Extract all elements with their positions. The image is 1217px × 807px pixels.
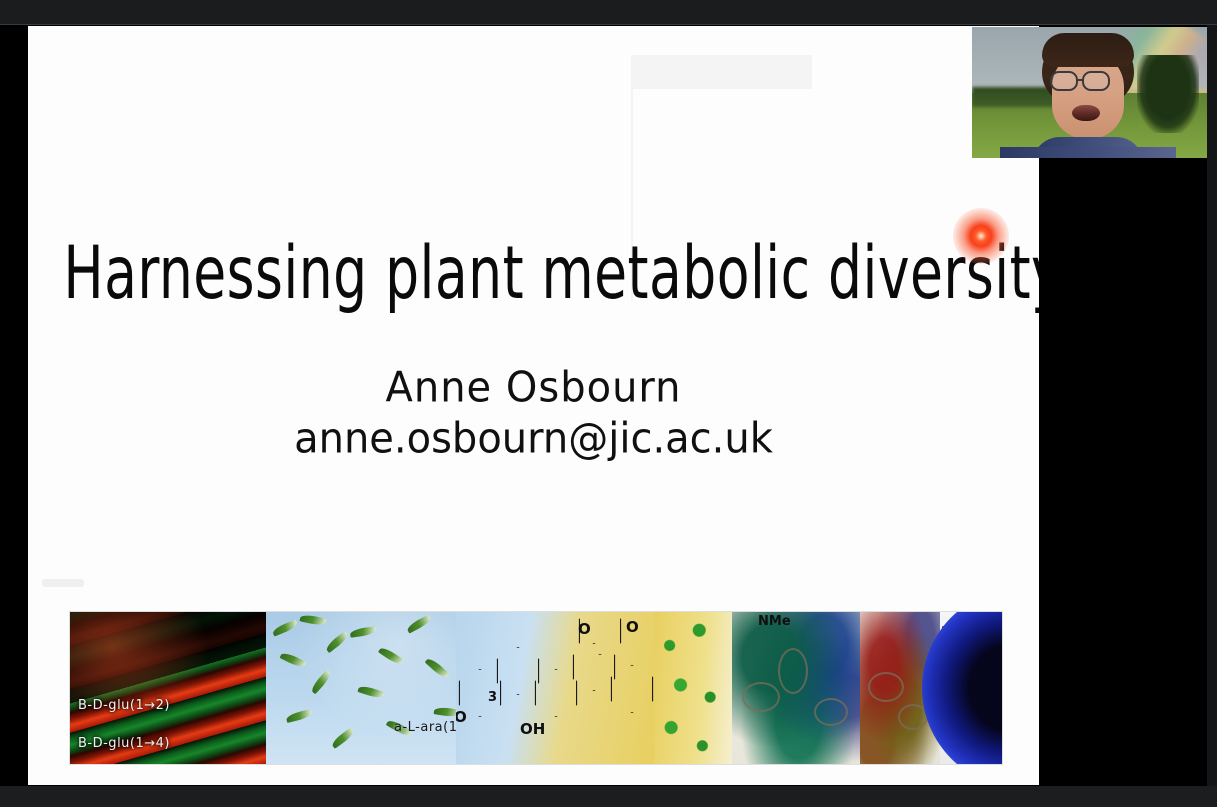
glasses-lens-left xyxy=(1050,71,1078,91)
stage-left-gutter xyxy=(0,25,28,786)
fluorescence-micrograph-panel: B-D-glu(1→2) B-D-glu(1→4) xyxy=(70,612,266,764)
presenter-name: Anne Osbourn xyxy=(28,365,1039,412)
protein-ribbon-green-blue-panel: NMe xyxy=(732,612,860,764)
meeting-top-bar xyxy=(0,0,1217,25)
meeting-stage: Harnessing plant metabolic diversity Ann… xyxy=(0,0,1217,807)
chem-atom-o-left: O xyxy=(456,708,467,726)
page-title: Harnessing plant metabolic diversity xyxy=(63,232,1003,316)
presenter-webcam-thumbnail[interactable] xyxy=(972,27,1207,158)
presenter-fringe xyxy=(1042,33,1134,67)
glasses-bridge xyxy=(1078,79,1084,81)
presenter-mouth xyxy=(1072,105,1100,121)
chem-atom-o-top: O xyxy=(578,620,591,638)
strip-right-margin xyxy=(1030,612,1039,764)
yellow-green-mottle-panel xyxy=(654,612,732,764)
meeting-bottom-bar xyxy=(0,786,1217,807)
glasses-lens-right xyxy=(1082,71,1110,91)
plant-leaves-panel: a-L-ara(1→) O xyxy=(266,612,456,764)
presenter-block: Anne Osbourn anne.osbourn@jic.ac.uk xyxy=(28,366,1039,462)
chem-label-glu-1-4: B-D-glu(1→4) xyxy=(78,736,170,751)
chem-atom-oh: OH xyxy=(520,720,545,738)
chem-label-ara-1: a-L-ara(1→) O xyxy=(394,720,456,735)
chem-atom-o-carbonyl: O xyxy=(626,618,639,636)
shared-slide[interactable]: Harnessing plant metabolic diversity Ann… xyxy=(28,26,1039,785)
saponin-structure-panel: O 3 OH O O xyxy=(456,612,654,764)
webcam-presenter-figure xyxy=(1028,33,1148,158)
chem-label-glu-1-2: B-D-glu(1→2) xyxy=(78,698,170,713)
slide-compression-artifact-top xyxy=(632,55,812,89)
chem-atom-position-3: 3 xyxy=(488,690,497,705)
steroid-ring-system xyxy=(456,612,654,764)
presenter-email: anne.osbourn@jic.ac.uk xyxy=(28,416,1039,463)
side-panel-rail[interactable] xyxy=(1207,25,1217,786)
laser-pointer-dot xyxy=(953,208,1009,264)
slide-compression-artifact-smudge xyxy=(42,579,84,587)
composite-science-image-strip: B-D-glu(1→2) B-D-glu(1→4) a-L-ara(1→) O xyxy=(70,612,1002,764)
presenter-shoulders xyxy=(1000,147,1176,158)
chem-label-nme: NMe xyxy=(758,614,791,629)
